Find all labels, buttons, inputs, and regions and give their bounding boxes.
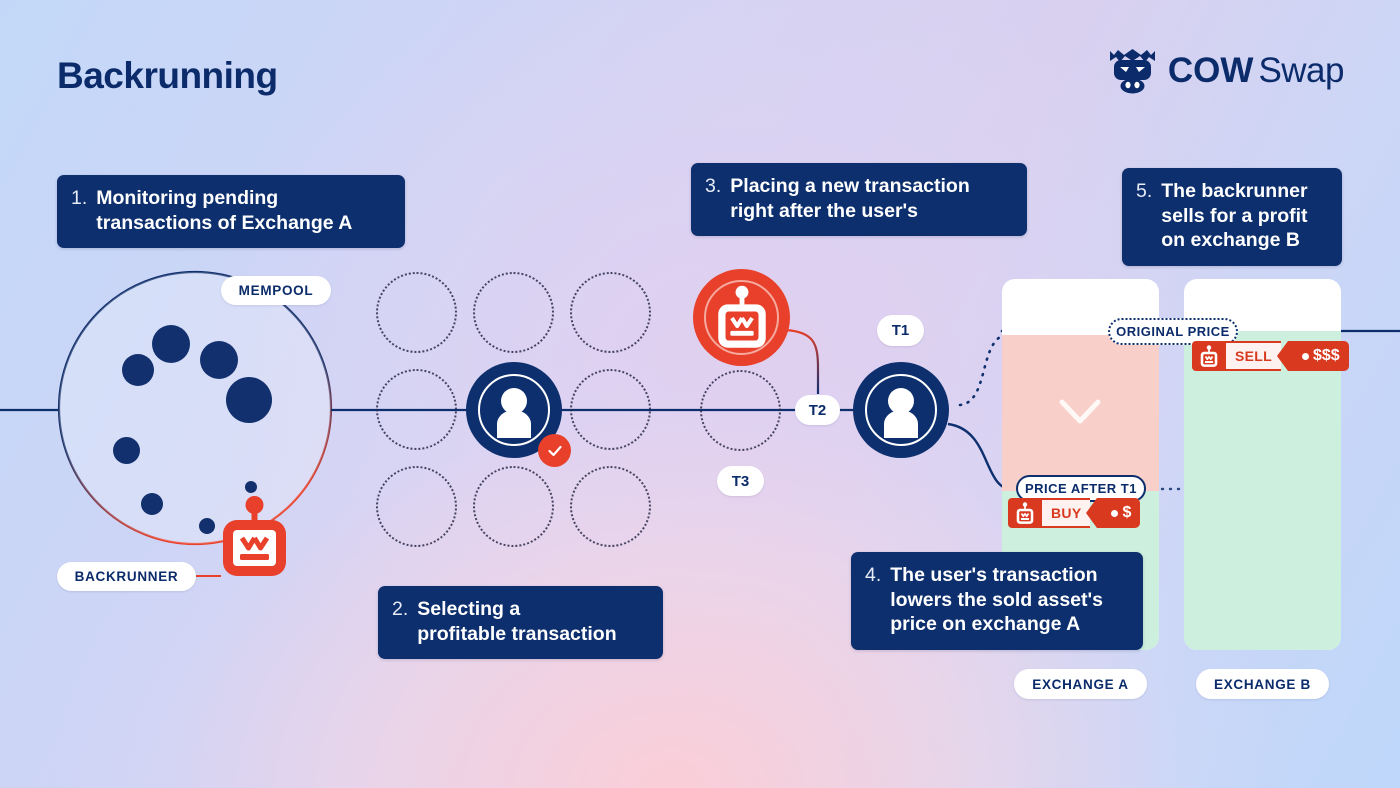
- pending-transaction-slot: [376, 466, 457, 547]
- sell-price-value: $$$: [1313, 347, 1340, 365]
- step-3-text: Placing a new transaction right after th…: [730, 174, 969, 223]
- cowswap-logo: COW Swap: [1107, 48, 1344, 94]
- buy-action-label: BUY: [1042, 498, 1090, 528]
- mempool-label: MEMPOOL: [221, 276, 331, 305]
- exchange-a-label: EXCHANGE A: [1014, 669, 1147, 699]
- step-4-text: The user's transaction lowers the sold a…: [890, 563, 1103, 637]
- mempool-transaction-dots: [0, 0, 1400, 788]
- step-3-box: 3. Placing a new transaction right after…: [691, 163, 1027, 236]
- backrunner-transaction-circle[interactable]: [693, 269, 790, 366]
- user-icon: [853, 362, 949, 458]
- bot-icon: [1008, 498, 1042, 528]
- backrunner-bot-icon: [221, 496, 288, 578]
- buy-price-amount: $: [1097, 498, 1140, 528]
- pending-transaction-slot: [473, 272, 554, 353]
- page-title: Backrunning: [57, 55, 278, 97]
- mempool-transaction-dot: [200, 341, 238, 379]
- mempool-transaction-dot: [226, 377, 272, 423]
- mempool-transaction-dot: [113, 437, 140, 464]
- step-2-number: 2.: [392, 597, 408, 646]
- mempool-transaction-dot: [199, 518, 215, 534]
- selected-check-badge: [538, 434, 571, 467]
- bot-glyph-icon: [1199, 345, 1219, 368]
- step-2-text: Selecting a profitable transaction: [417, 597, 616, 646]
- t3-label: T3: [717, 466, 764, 496]
- pending-transaction-slot: [570, 466, 651, 547]
- step-1-text: Monitoring pending transactions of Excha…: [96, 186, 352, 235]
- step-1-box: 1. Monitoring pending transactions of Ex…: [57, 175, 405, 248]
- step-5-text: The backrunner sells for a profit on exc…: [1161, 179, 1307, 253]
- buy-price-value: $: [1122, 504, 1131, 522]
- bot-glyph-icon: [1015, 502, 1035, 525]
- pending-transaction-slot: [570, 272, 651, 353]
- t2-label: T2: [795, 395, 840, 425]
- pending-transaction-slot: [376, 272, 457, 353]
- mempool-transaction-dot: [141, 493, 163, 515]
- bot-icon: [713, 285, 771, 351]
- t3-empty-slot: [700, 370, 781, 451]
- tag-hole: [1302, 353, 1309, 360]
- cow-head-icon: [1107, 48, 1159, 94]
- mempool-transaction-dot: [152, 325, 190, 363]
- backrunner-label: BACKRUNNER: [57, 562, 196, 591]
- bot-icon: [1192, 341, 1226, 371]
- step-4-box: 4. The user's transaction lowers the sol…: [851, 552, 1143, 650]
- check-icon: [546, 442, 564, 460]
- pending-transaction-slot: [376, 369, 457, 450]
- t1-label: T1: [877, 315, 924, 346]
- step-3-number: 3.: [705, 174, 721, 223]
- step-5-number: 5.: [1136, 179, 1152, 253]
- sell-price-tag-group: SELL $$$: [1192, 341, 1349, 371]
- step-2-box: 2. Selecting a profitable transaction: [378, 586, 663, 659]
- pending-transaction-slot: [473, 466, 554, 547]
- mempool-transaction-dot: [245, 481, 257, 493]
- user-transaction-avatar[interactable]: [853, 362, 949, 458]
- brand-swap-text: Swap: [1258, 51, 1344, 91]
- pending-transaction-slot: [570, 369, 651, 450]
- step-5-box: 5. The backrunner sells for a profit on …: [1122, 168, 1342, 266]
- brand-cow-text: COW: [1168, 51, 1254, 91]
- sell-action-label: SELL: [1226, 341, 1281, 371]
- sell-price-amount: $$$: [1288, 341, 1349, 371]
- exchange-b-label: EXCHANGE B: [1196, 669, 1329, 699]
- tag-hole: [1111, 510, 1118, 517]
- buy-price-tag-group: BUY $: [1008, 498, 1140, 528]
- step-1-number: 1.: [71, 186, 87, 235]
- mempool-transaction-dot: [122, 354, 154, 386]
- step-4-number: 4.: [865, 563, 881, 637]
